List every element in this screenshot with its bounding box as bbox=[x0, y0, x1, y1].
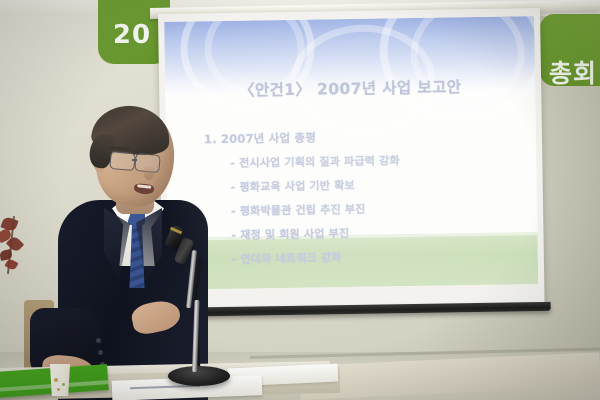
slide-bullet-3: - 평화박물관 건립 추진 부진 bbox=[231, 198, 525, 219]
slide-title: 〈안건1〉 2007년 사업 보고안 bbox=[165, 74, 535, 102]
slide-bullet-4: - 재정 및 회원 사업 부진 bbox=[231, 222, 525, 243]
banner-right: 총회 bbox=[540, 14, 600, 86]
slide-bullet-2: - 평화교육 사업 기반 확보 bbox=[231, 174, 525, 195]
nose bbox=[144, 166, 154, 180]
suit-button bbox=[96, 338, 101, 343]
slide-bullet-5: - 연대와 네트워크 강화 bbox=[232, 246, 526, 267]
cup-pattern bbox=[62, 383, 65, 386]
banner-left-text: 20 bbox=[113, 20, 151, 50]
eyeglasses-bridge bbox=[132, 159, 137, 161]
paper-cup bbox=[48, 364, 72, 396]
microphone-base bbox=[168, 366, 230, 386]
slide-content: 〈안건1〉 2007년 사업 보고안 1. 2007년 사업 총평 - 전시사업… bbox=[164, 16, 538, 290]
cup-pattern bbox=[54, 378, 58, 382]
projected-slide: 〈안건1〉 2007년 사업 보고안 1. 2007년 사업 총평 - 전시사업… bbox=[164, 16, 538, 290]
eyeglasses-icon bbox=[109, 151, 135, 171]
projection-screen: 〈안건1〉 2007년 사업 보고안 1. 2007년 사업 총평 - 전시사업… bbox=[158, 8, 545, 320]
slide-section-heading: 1. 2007년 사업 총평 bbox=[204, 126, 524, 147]
dried-flowers-decoration bbox=[0, 216, 32, 286]
slide-bullet-list: 1. 2007년 사업 총평 - 전시사업 기획의 질과 파급력 강화 - 평화… bbox=[204, 126, 526, 275]
banner-right-text: 총회 bbox=[549, 54, 597, 86]
screen-surface: 〈안건1〉 2007년 사업 보고안 1. 2007년 사업 총평 - 전시사업… bbox=[158, 8, 545, 310]
presentation-photo: 20 총회 〈안건1〉 2007년 사업 보고안 1. 2007년 사업 총평 bbox=[0, 0, 600, 400]
suit-button bbox=[98, 350, 103, 355]
cup-pattern bbox=[57, 388, 60, 391]
slide-bullet-1: - 전시사업 기획의 질과 파급력 강화 bbox=[230, 150, 524, 171]
